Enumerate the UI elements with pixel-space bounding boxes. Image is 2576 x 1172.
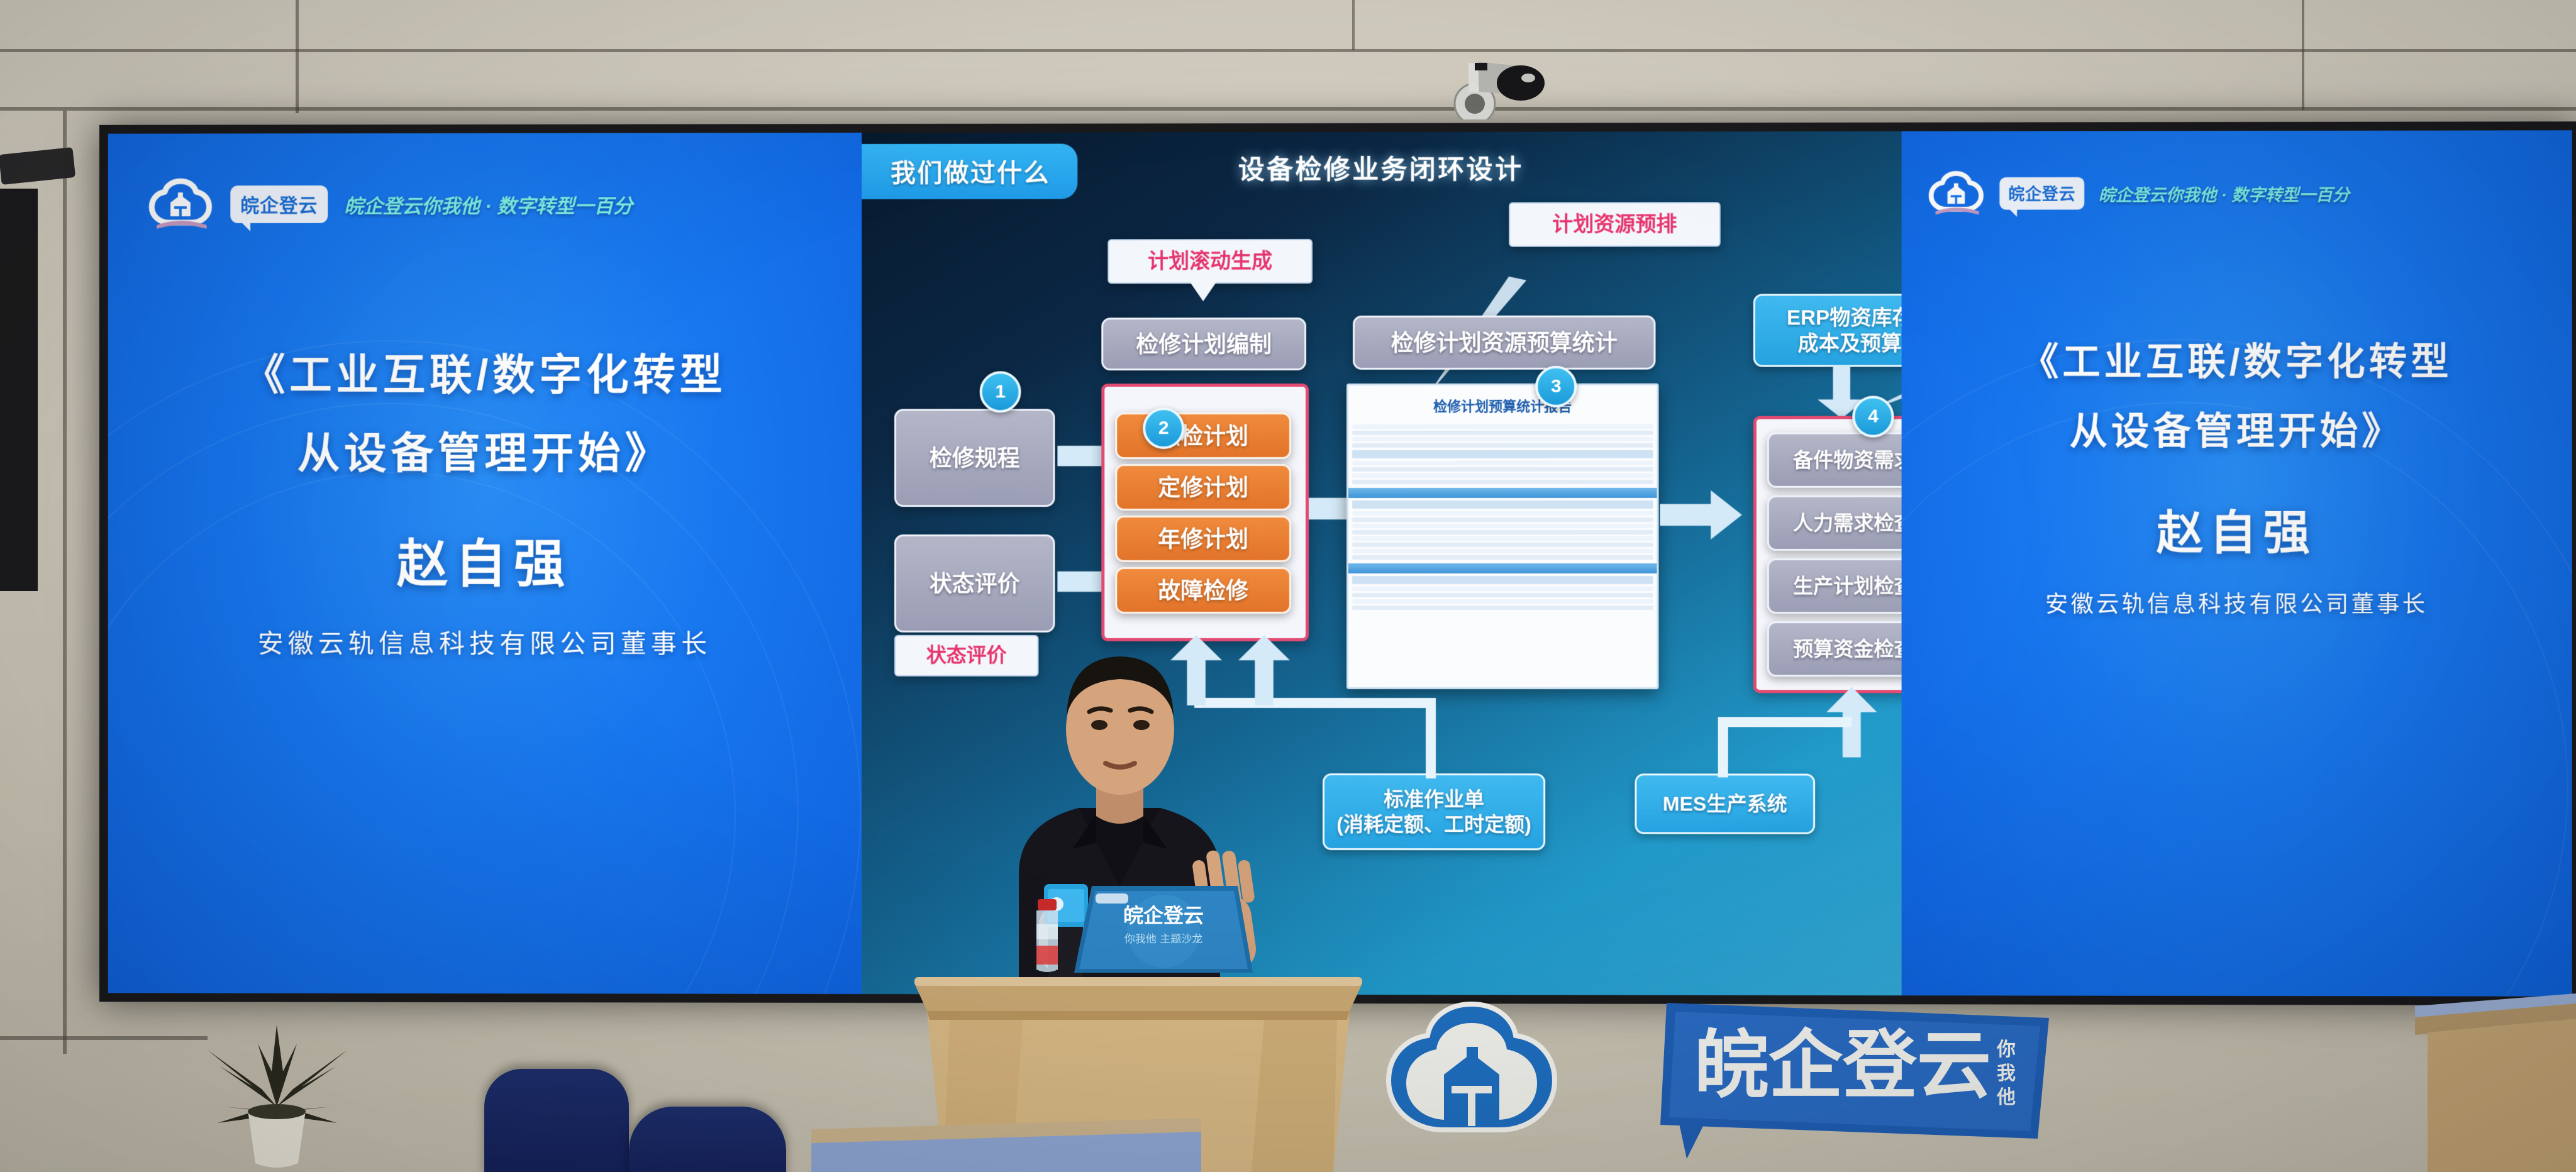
right-panel-speaker-name: 赵自强 — [1902, 495, 2572, 563]
left-panel-speaker-org: 安徽云轨信息科技有限公司董事长 — [108, 622, 862, 660]
screenshot-root: 皖企登云 皖企登云你我他 · 数字转型一百分 《工业互联/数字化转型 从设备管理… — [0, 0, 2576, 1172]
slide-title: 设备检修业务闭环设计 — [862, 148, 1901, 187]
left-panel-title-line1: 《工业互联/数字化转型 — [108, 340, 862, 402]
node-input-0: 检修规程 — [894, 409, 1055, 507]
wall-tile-seam — [2302, 0, 2304, 110]
ceiling-camera-icon — [1440, 38, 1566, 119]
right-panel-speaker-org: 安徽云轨信息科技有限公司董事长 — [1902, 586, 2572, 619]
svg-text:你: 你 — [1996, 1039, 2016, 1061]
side-table-right — [2415, 993, 2576, 1172]
step-badge-3-label: 3 — [1551, 376, 1562, 397]
cloud-house-logo-icon — [1927, 170, 1985, 217]
callout-plan-rolling: 计划滚动生成 — [1108, 239, 1313, 284]
connector-source0-up — [1426, 698, 1436, 778]
brand-logo-pill: 皖企登云 — [1999, 177, 2084, 210]
brand-logo-text: 皖企登云 — [2008, 186, 2075, 204]
node-budget-header: 检修计划资源预算统计 — [1353, 316, 1655, 370]
callout-resource-preschedule: 计划资源预排 — [1509, 202, 1721, 246]
right-panel-title-line1: 《工业互联/数字化转型 — [1902, 331, 2572, 387]
node-input-1: 状态评价 — [894, 534, 1055, 633]
callout-resource-preschedule-label: 计划资源预排 — [1552, 212, 1677, 235]
potted-plant — [182, 1006, 371, 1172]
node-bottom-source-0: 标准作业单 (消耗定额、工时定额) — [1323, 773, 1545, 850]
node-bottom-source-0-line2: (消耗定额、工时定额) — [1336, 812, 1531, 837]
step-badge-2: 2 — [1143, 407, 1184, 449]
node-plan-item-2-label: 年修计划 — [1158, 525, 1248, 553]
node-plan-item-2: 年修计划 — [1115, 516, 1291, 562]
step-badge-4: 4 — [1852, 396, 1894, 438]
step-badge-2-label: 2 — [1158, 417, 1169, 439]
node-bottom-source-1-line1: MES生产系统 — [1663, 791, 1787, 816]
step-badge-1-label: 1 — [995, 381, 1006, 402]
wall-tile-seam — [296, 0, 299, 113]
brand-logo-text: 皖企登云 — [240, 196, 318, 216]
svg-text:他: 他 — [1996, 1086, 2016, 1108]
wall-tile-seam — [0, 49, 2576, 52]
cloud-house-logo-icon — [147, 177, 214, 231]
chair-1 — [629, 1107, 786, 1172]
node-resource-item-0: 备件物资需求 — [1767, 433, 1902, 488]
node-plan-item-0: 点检计划 — [1115, 412, 1291, 459]
wall-tile-seam — [0, 107, 2576, 111]
node-plan-item-3: 故障检修 — [1115, 567, 1291, 614]
wall-tile-seam — [1352, 0, 1355, 50]
led-video-wall: 皖企登云 皖企登云你我他 · 数字转型一百分 《工业互联/数字化转型 从设备管理… — [99, 121, 2576, 1005]
wall-dark-panel — [0, 189, 38, 591]
node-resource-item-3: 预算资金检查 — [1767, 621, 1902, 677]
water-bottle — [1031, 899, 1063, 975]
node-budget-header-label: 检修计划资源预算统计 — [1391, 328, 1617, 357]
svg-text:你我他 主题沙龙: 你我他 主题沙龙 — [1124, 933, 1202, 946]
node-plan-header-label: 检修计划编制 — [1136, 330, 1272, 358]
svg-text:我: 我 — [1997, 1063, 2016, 1085]
embedded-report-title: 检修计划预算统计报告 — [1348, 395, 1657, 416]
node-input-0-label: 检修规程 — [930, 444, 1020, 472]
step-badge-3: 3 — [1535, 366, 1577, 407]
node-resource-item-0-label: 备件物资需求 — [1793, 448, 1902, 473]
connector-source1-bridge — [1718, 717, 1852, 727]
brand-tagline: 皖企登云你我他 · 数字转型一百分 — [2099, 181, 2350, 206]
step-badge-4-label: 4 — [1868, 406, 1879, 428]
right-brand-row: 皖企登云 皖企登云你我他 · 数字转型一百分 — [1927, 170, 2350, 217]
left-brand-row: 皖企登云 皖企登云你我他 · 数字转型一百分 — [147, 177, 633, 231]
right-display-panel: 皖企登云 皖企登云你我他 · 数字转型一百分 《工业互联/数字化转型 从设备管理… — [1902, 130, 2572, 996]
node-bottom-source-0-line1: 标准作业单 — [1384, 787, 1484, 812]
node-resource-item-1: 人力需求检查 — [1767, 495, 1902, 551]
node-bottom-source-1: MES生产系统 — [1635, 773, 1815, 834]
right-panel-title-line2: 从设备管理开始》 — [1902, 401, 2572, 456]
node-resource-item-2: 生产计划检查 — [1767, 558, 1902, 614]
node-plan-item-3-label: 故障检修 — [1158, 576, 1248, 604]
node-resource-item-3-label: 预算资金检查 — [1793, 636, 1902, 661]
callout-plan-rolling-label: 计划滚动生成 — [1148, 249, 1272, 272]
podium-brand-sign: 皖企登云 你 我 他 — [1365, 990, 2069, 1172]
brand-logo-pill: 皖企登云 — [230, 185, 328, 223]
left-panel-title-line2: 从设备管理开始》 — [108, 418, 862, 480]
node-plan-item-1-label: 定修计划 — [1158, 473, 1248, 502]
embedded-report-screenshot: 检修计划预算统计报告 — [1346, 384, 1659, 690]
podium-sign-text-render: 皖企登云 — [1694, 1022, 1991, 1108]
svg-text:皖企登云: 皖企登云 — [1123, 904, 1204, 927]
arrow-budget-to-resource — [1660, 490, 1742, 539]
brand-tagline: 皖企登云你我他 · 数字转型一百分 — [344, 190, 633, 218]
step-badge-1: 1 — [980, 371, 1021, 412]
node-input-1-label: 状态评价 — [930, 569, 1020, 597]
chair-0 — [484, 1069, 629, 1172]
laptop: 皖企登云 你我他 主题沙龙 — [1069, 877, 1258, 978]
node-resource-item-1-label: 人力需求检查 — [1793, 511, 1902, 536]
wall-tile-seam — [63, 111, 67, 1054]
left-panel-speaker-name: 赵自强 — [108, 522, 862, 597]
node-resource-item-2-label: 生产计划检查 — [1793, 573, 1902, 599]
front-table-left — [811, 1113, 1201, 1172]
wall-tile-seam — [0, 1036, 208, 1040]
node-plan-item-1: 定修计划 — [1115, 464, 1291, 511]
node-plan-header: 检修计划编制 — [1101, 318, 1306, 370]
left-display-panel: 皖企登云 皖企登云你我他 · 数字转型一百分 《工业互联/数字化转型 从设备管理… — [108, 133, 862, 994]
